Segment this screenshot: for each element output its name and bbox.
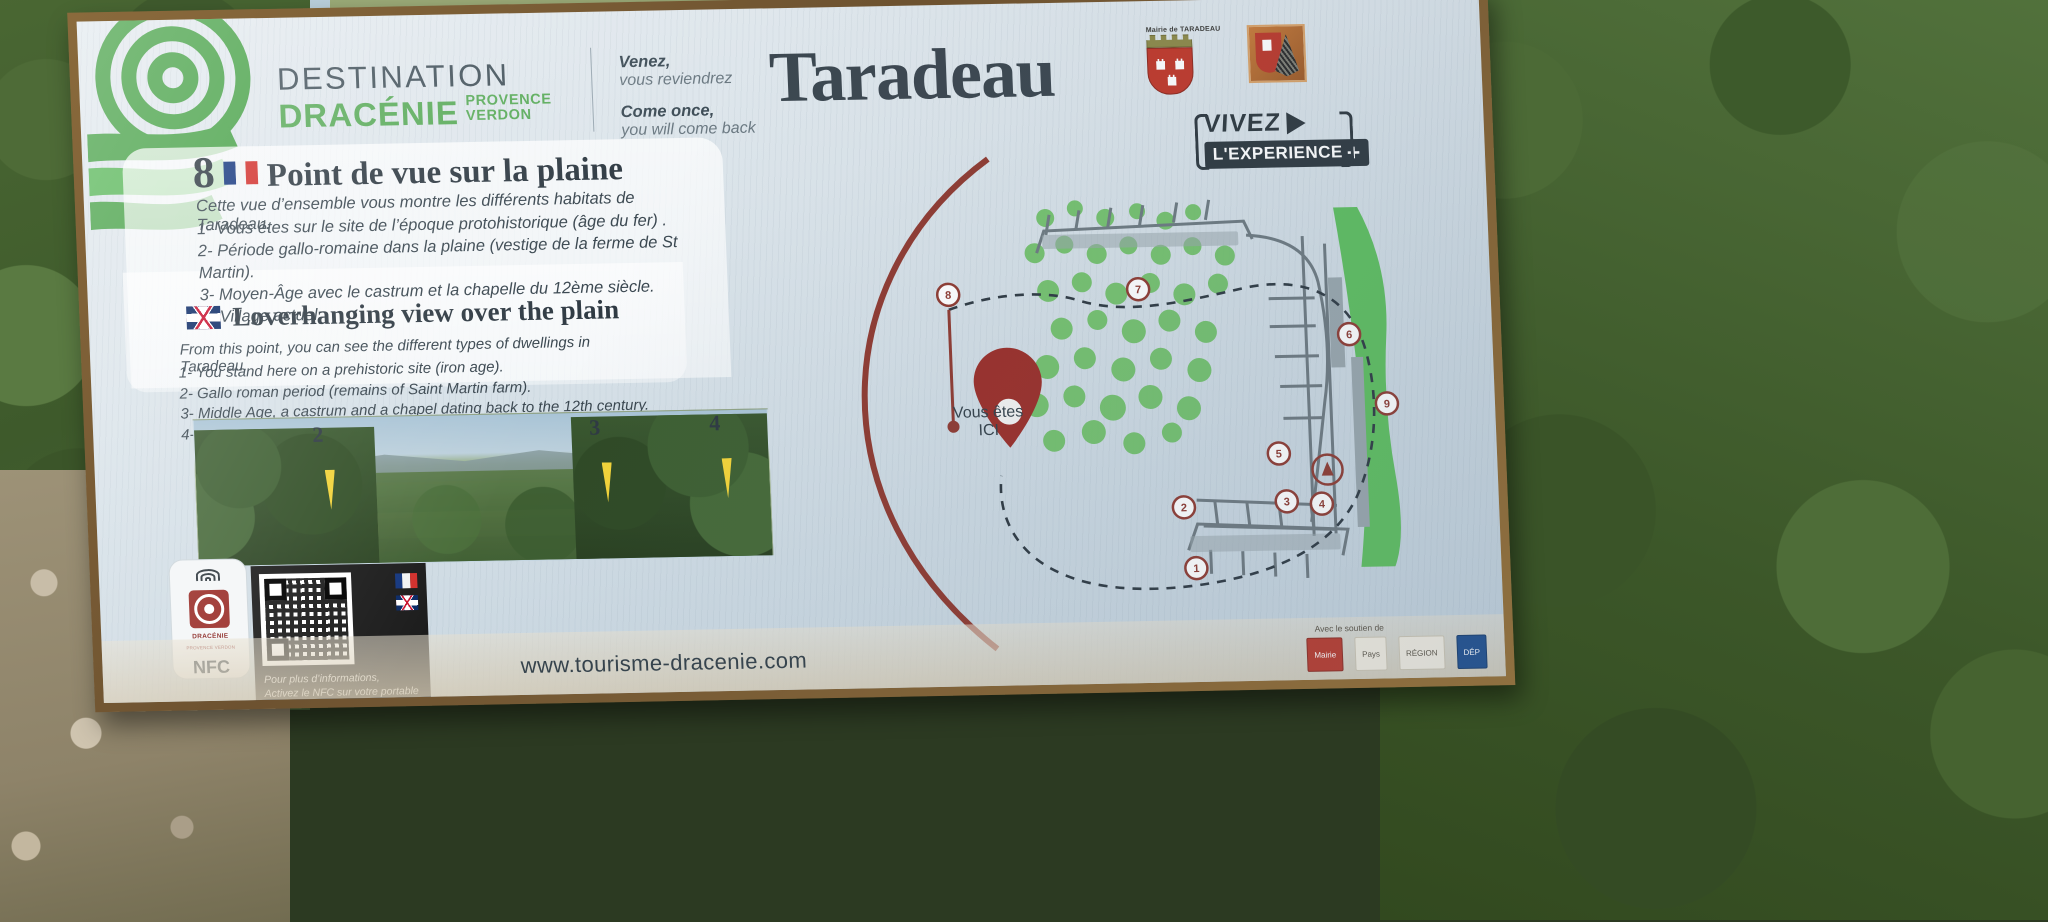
town-name-title: Taradeau [768, 31, 1057, 119]
stop-number: 8 [192, 151, 216, 195]
french-flag-icon [223, 161, 258, 185]
partner-logo: DÉP [1456, 635, 1488, 670]
village-map: 1 2 3 4 5 6 7 8 9 [741, 115, 1483, 668]
svg-text:6: 6 [1346, 329, 1353, 341]
uk-flag-icon [396, 595, 419, 610]
photo-label: 4 [709, 410, 721, 436]
dracenie-text: DRACÉNIEPROVENCEVERDON [278, 92, 553, 134]
heritage-badge-icon [1246, 24, 1306, 83]
svg-text:1: 1 [1193, 563, 1200, 575]
partner-logo: RÉGION [1398, 635, 1445, 670]
you-are-here-line1: Vous êtes [953, 403, 1024, 423]
photo-trees-left [193, 427, 380, 567]
tagline-block: Venez, vous reviendrez Come once, you wi… [618, 51, 756, 141]
tower-icon [1175, 57, 1184, 69]
landscape-photo-panel [193, 408, 774, 567]
photo-label: 2 [312, 422, 324, 448]
support-label: Avec le soutien de [1314, 622, 1384, 633]
french-heading: Point de vue sur la plaine [266, 151, 624, 195]
crest-crown [1146, 34, 1193, 48]
emblems-group: Mairie de TARADEAU [1146, 24, 1307, 95]
uk-flag-icon [186, 306, 221, 330]
you-are-here-line2: ICI [953, 422, 1024, 442]
sign-wooden-frame: DESTINATION DRACÉNIEPROVENCEVERDON Venez… [67, 0, 1515, 712]
you-are-here-label: Vous êtes ICI [953, 403, 1025, 441]
svg-text:3: 3 [1284, 496, 1291, 508]
dracenie-round-logo-icon [188, 590, 230, 629]
dracenie-wordmark: DESTINATION DRACÉNIEPROVENCEVERDON [276, 57, 552, 135]
partner-logo: Pays [1354, 636, 1387, 671]
partner-logo: Mairie [1307, 637, 1344, 672]
nfc-wave-icon [195, 569, 222, 585]
svg-text:2: 2 [1181, 502, 1188, 514]
tagline-en-bold: Come once, [620, 101, 755, 123]
photo-label: 3 [589, 415, 601, 441]
tagline-fr-bold: Venez, [618, 51, 753, 73]
crest-shield [1146, 47, 1194, 95]
tower-icon [1156, 58, 1165, 70]
tower-icon [1167, 73, 1176, 85]
french-flag-icon [395, 573, 418, 588]
qr-language-flags [395, 573, 418, 610]
information-sign-board: DESTINATION DRACÉNIEPROVENCEVERDON Venez… [67, 0, 1515, 712]
svg-text:5: 5 [1276, 448, 1283, 460]
provence-verdon-text: PROVENCEVERDON [465, 92, 552, 123]
svg-text:9: 9 [1384, 398, 1391, 410]
town-coat-of-arms: Mairie de TARADEAU [1146, 26, 1223, 95]
svg-text:7: 7 [1135, 284, 1142, 296]
crest-caption: Mairie de TARADEAU [1146, 26, 1221, 34]
sign-face: DESTINATION DRACÉNIEPROVENCEVERDON Venez… [77, 0, 1506, 703]
crest-icon [1146, 34, 1194, 95]
header-divider [590, 48, 594, 132]
photo-of-interpretive-sign: DESTINATION DRACÉNIEPROVENCEVERDON Venez… [0, 0, 2048, 922]
badge-square [1262, 40, 1271, 51]
website-url[interactable]: www.tourisme-dracenie.com [520, 648, 807, 679]
svg-text:8: 8 [945, 290, 952, 302]
photo-trees-right [571, 413, 774, 563]
french-heading-row: 8 Point de vue sur la plaine [192, 143, 624, 196]
partner-logos: Mairie Pays RÉGION DÉP [1307, 635, 1488, 672]
